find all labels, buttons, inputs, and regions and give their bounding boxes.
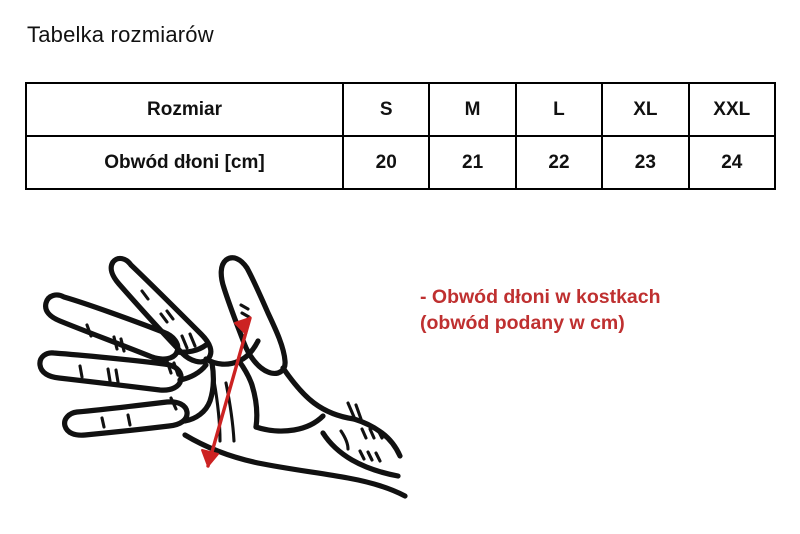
crease-middle-3 (121, 339, 124, 351)
palm-edge-index-base (206, 341, 258, 364)
crease-wrist-hatch-1 (362, 429, 366, 438)
size-cell-xl: XL (602, 83, 688, 136)
annotation-line-1: - Obwód dłoni w kostkach (420, 284, 661, 310)
crease-ring-1 (80, 366, 82, 377)
crease-little-1 (102, 418, 104, 427)
size-cell-xxl: XXL (689, 83, 775, 136)
table-row-label-circumference: Obwód dłoni [cm] (26, 136, 343, 189)
size-chart-page: Tabelka rozmiarów Rozmiar S M L XL XXL O… (0, 0, 800, 534)
crease-wrist-hatch-5 (368, 452, 372, 460)
size-cell-m: M (429, 83, 515, 136)
crease-wrist-3 (341, 431, 348, 449)
crease-wrist-hatch-2 (370, 429, 374, 438)
palm-right-edge (283, 368, 354, 419)
table-header-label: Rozmiar (26, 83, 343, 136)
crease-thumb-1 (241, 305, 248, 309)
hand-bottom-edge (185, 435, 405, 496)
circumference-cell-s: 20 (343, 136, 429, 189)
crease-index-1 (142, 291, 148, 299)
palm-lower-crease (256, 416, 323, 431)
crease-middle-2 (114, 337, 117, 349)
size-table: Rozmiar S M L XL XXL Obwód dłoni [cm] 20… (25, 82, 776, 190)
crease-ring-2 (108, 369, 110, 381)
crease-knuckle-middle-2 (190, 334, 195, 346)
thumb-web-crease (239, 361, 257, 427)
crease-wrist-1 (348, 403, 354, 417)
crease-wrist-hatch-6 (376, 453, 380, 461)
circumference-cell-xl: 23 (602, 136, 688, 189)
table-row-circumference: Obwód dłoni [cm] 20 21 22 23 24 (26, 136, 775, 189)
page-title: Tabelka rozmiarów (27, 22, 214, 48)
size-cell-s: S (343, 83, 429, 136)
annotation-text: - Obwód dłoni w kostkach (obwód podany w… (420, 284, 661, 336)
palm-edge-ring-base (180, 365, 206, 380)
annotation-line-2: (obwód podany w cm) (420, 310, 661, 336)
crease-knuckle-ring-2 (174, 363, 178, 375)
crease-knuckle-middle (182, 336, 187, 348)
crease-wrist-hatch-4 (360, 451, 364, 459)
crease-ring-3 (116, 370, 118, 382)
crease-little-2 (128, 415, 130, 425)
crease-thumb-2 (242, 313, 249, 317)
crease-wrist-2 (356, 405, 361, 419)
measure-arrow-head-bottom (202, 450, 218, 466)
thumb-outline (221, 258, 285, 374)
circumference-cell-m: 21 (429, 136, 515, 189)
crease-index-3 (167, 311, 173, 319)
crease-index-2 (161, 314, 167, 322)
open-hand-drawing-svg (30, 235, 430, 530)
table-row-sizes: Rozmiar S M L XL XXL (26, 83, 775, 136)
circumference-cell-l: 22 (516, 136, 602, 189)
hand-illustration (30, 235, 430, 530)
size-cell-l: L (516, 83, 602, 136)
hand-outline-group (40, 258, 405, 496)
little-finger-outline (65, 402, 187, 435)
circumference-cell-xxl: 24 (689, 136, 775, 189)
